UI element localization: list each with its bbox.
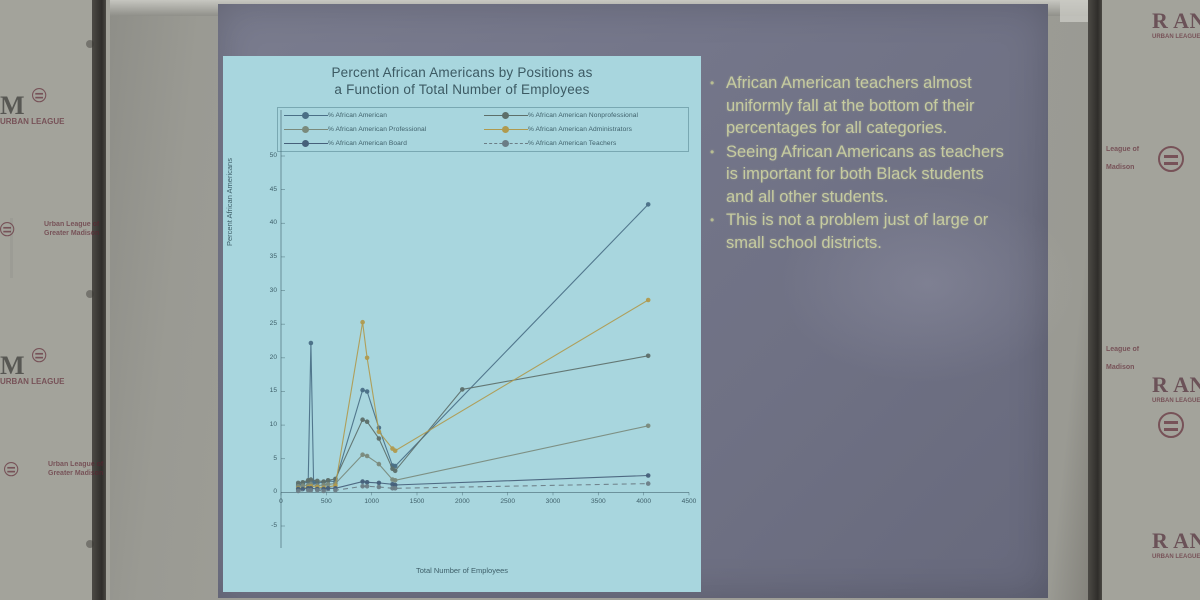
- data-point: [365, 480, 370, 485]
- slide-bullet-text: This is not a problem just of large or s…: [726, 209, 1010, 254]
- projector-room-scene: M URBAN LEAGUEM URBAN LEAGUEUrban League…: [0, 0, 1200, 600]
- y-tick-label: -5: [251, 522, 277, 529]
- banner-grommet-icon: [86, 40, 94, 48]
- chart-panel: Percent African Americans by Positions a…: [223, 56, 701, 592]
- bullet-marker-icon: •: [710, 141, 726, 209]
- data-point: [315, 488, 320, 493]
- chart-plot-area: Percent African Americans Total Number o…: [223, 56, 701, 592]
- data-point: [360, 417, 365, 422]
- sponsor-lockup: Urban League ofGreater Madison: [4, 462, 103, 488]
- banner-grommet-icon: [86, 540, 94, 548]
- data-point: [360, 479, 365, 484]
- bullet-marker-icon: •: [710, 209, 726, 254]
- y-tick-label: 35: [251, 253, 277, 260]
- data-point: [315, 479, 320, 484]
- sponsor-wordmark: R ANURBAN LEAGUE: [1152, 528, 1200, 560]
- x-tick-label: 1000: [355, 498, 389, 505]
- slide-bullet: •This is not a problem just of large or …: [710, 209, 1010, 254]
- y-tick-label: 45: [251, 186, 277, 193]
- y-tick-label: 30: [251, 287, 277, 294]
- sponsor-wordmark: R ANURBAN LEAGUE: [1152, 8, 1200, 40]
- x-tick-label: 4000: [627, 498, 661, 505]
- chart-series: [296, 354, 651, 486]
- data-point: [377, 462, 382, 467]
- x-tick-label: 1500: [400, 498, 434, 505]
- data-point: [321, 489, 326, 494]
- sponsor-lockup: Urban League ofGreater Madison: [0, 222, 99, 248]
- equals-circle-icon: [32, 348, 46, 362]
- data-point: [646, 424, 651, 429]
- sponsor-wordmark: M URBAN LEAGUE: [0, 348, 64, 386]
- data-point: [377, 430, 382, 435]
- chart-y-axis-label: Percent African Americans: [225, 158, 234, 246]
- sponsor-wordmark: R ANURBAN LEAGUE: [1152, 372, 1200, 404]
- chart-series: [296, 481, 651, 493]
- data-point: [360, 452, 365, 457]
- y-tick-label: 15: [251, 387, 277, 394]
- y-tick-label: 20: [251, 354, 277, 361]
- chart-series: [296, 202, 651, 487]
- data-point: [309, 341, 314, 346]
- x-tick-label: 3000: [536, 498, 570, 505]
- chart-series: [296, 298, 651, 491]
- slide-bullet: •Seeing African Americans as teachers is…: [710, 141, 1010, 209]
- y-tick-label: 25: [251, 320, 277, 327]
- data-point: [365, 389, 370, 394]
- bullet-marker-icon: •: [710, 72, 726, 140]
- y-tick-label: 50: [251, 152, 277, 159]
- data-point: [393, 478, 398, 483]
- data-point: [646, 298, 651, 303]
- sponsor-wordmark: M URBAN LEAGUE: [0, 88, 64, 126]
- x-tick-label: 0: [264, 498, 298, 505]
- data-point: [393, 486, 398, 491]
- equals-circle-icon: [32, 88, 46, 102]
- slide-bullet-text: African American teachers almost uniform…: [726, 72, 1010, 140]
- data-point: [646, 481, 651, 486]
- data-point: [365, 484, 370, 489]
- x-tick-label: 500: [309, 498, 343, 505]
- chart-series: [296, 473, 651, 491]
- chart-series: [296, 424, 651, 489]
- data-point: [365, 356, 370, 361]
- data-point: [360, 320, 365, 325]
- x-tick-label: 2000: [445, 498, 479, 505]
- y-tick-label: 5: [251, 455, 277, 462]
- data-point: [460, 387, 465, 392]
- slide-bullet: •African American teachers almost unifor…: [710, 72, 1010, 140]
- chart-x-axis-label: Total Number of Employees: [223, 566, 701, 575]
- data-point: [309, 488, 314, 493]
- data-point: [365, 419, 370, 424]
- data-point: [377, 485, 382, 490]
- slide-bullet-list: •African American teachers almost unifor…: [710, 72, 1010, 255]
- data-point: [360, 484, 365, 489]
- chart-svg: [223, 56, 701, 592]
- data-point: [309, 477, 314, 482]
- data-point: [333, 488, 338, 493]
- data-point: [646, 473, 651, 478]
- data-point: [296, 489, 301, 494]
- data-point: [393, 469, 398, 474]
- equals-circle-icon: [1158, 412, 1184, 443]
- sponsor-lockup-text: League ofMadison: [1106, 338, 1139, 374]
- data-point: [646, 202, 651, 207]
- data-point: [360, 388, 365, 393]
- data-point: [326, 486, 331, 491]
- data-point: [393, 448, 398, 453]
- data-point: [377, 436, 382, 441]
- y-tick-label: 40: [251, 219, 277, 226]
- slide-bullet-text: Seeing African Americans as teachers is …: [726, 141, 1010, 209]
- data-point: [326, 478, 331, 483]
- data-point: [646, 354, 651, 359]
- x-tick-label: 3500: [581, 498, 615, 505]
- data-point: [365, 454, 370, 459]
- x-tick-label: 4500: [672, 498, 706, 505]
- projected-slide: Percent African Americans by Positions a…: [218, 4, 1048, 598]
- data-point: [377, 481, 382, 486]
- x-tick-label: 2500: [491, 498, 525, 505]
- data-point: [326, 482, 331, 487]
- y-tick-label: 0: [251, 488, 277, 495]
- sponsor-lockup-text: League ofMadison: [1106, 138, 1139, 174]
- wall-pillar-right: [1088, 0, 1102, 600]
- y-tick-label: 10: [251, 421, 277, 428]
- equals-circle-icon: [1158, 146, 1184, 177]
- banner-grommet-icon: [86, 290, 94, 298]
- sponsor-banner-right: [1088, 0, 1200, 600]
- wall-pillar-left: [92, 0, 106, 600]
